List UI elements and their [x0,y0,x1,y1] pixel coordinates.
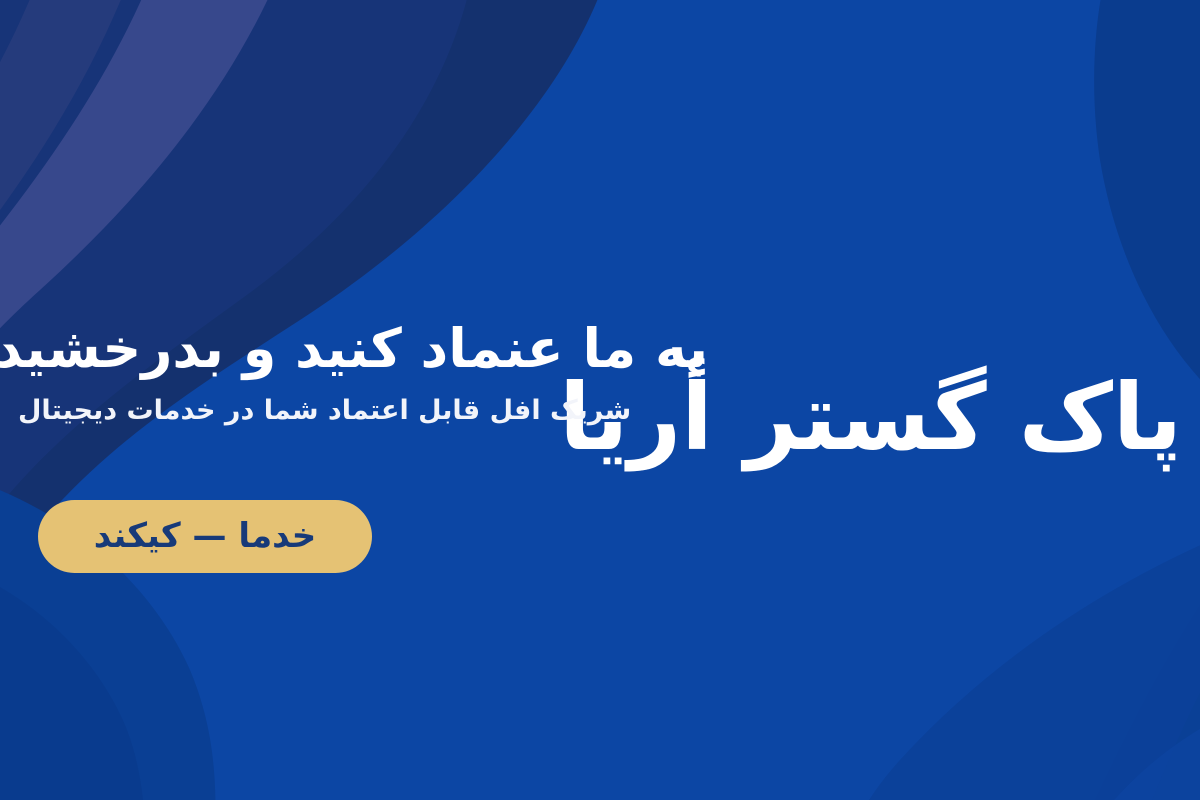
headline-primary: به ما عنماد کنید و بدرخشید! [18,318,708,381]
headline-secondary: شریک افل قابل اعتماد شما در خدمات دیجیتا… [18,393,708,428]
headline-block: به ما عنماد کنید و بدرخشید! شریک افل قاب… [18,318,708,428]
brand-title: پاک گستر أریا [712,362,1182,474]
promo-banner: پاک گستر أریا به ما عنماد کنید و بدرخشید… [0,0,1200,800]
banner-content: پاک گستر أریا به ما عنماد کنید و بدرخشید… [0,0,1200,800]
cta-button[interactable]: خدما — کیکند [38,500,372,573]
